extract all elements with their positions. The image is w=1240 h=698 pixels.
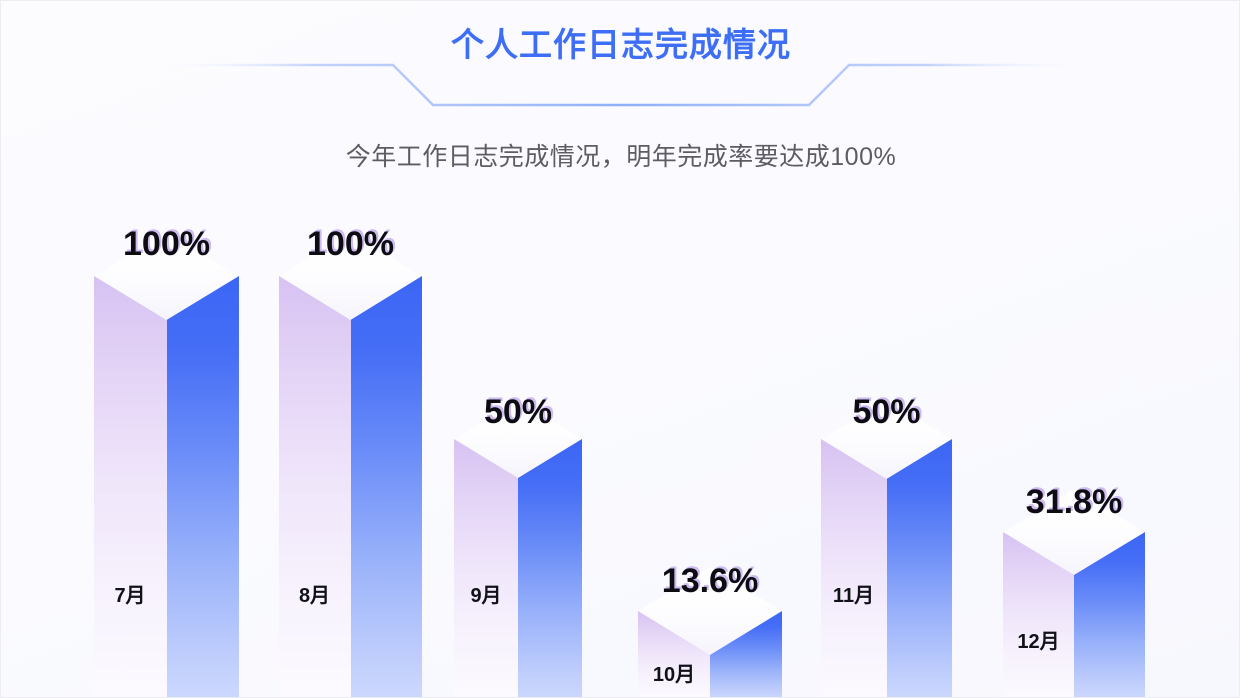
bar-label-2: 8月 xyxy=(279,579,350,608)
bar-value-3: 50% xyxy=(454,393,582,432)
bar-value-5: 50% xyxy=(821,393,952,432)
bar-prism-5 xyxy=(821,439,952,698)
bar-group-5[interactable]: 50% 11月 xyxy=(821,399,952,698)
bar-group-2[interactable]: 100% 8月 xyxy=(279,231,422,698)
bar-prism-3 xyxy=(454,439,582,698)
bar-label-3: 9月 xyxy=(454,579,518,608)
bar-prism-1 xyxy=(94,276,239,698)
bar-face-left-2 xyxy=(279,276,351,698)
bar-group-3[interactable]: 50% 9月 xyxy=(454,399,582,698)
bar-label-4: 10月 xyxy=(638,658,710,687)
bar-value-4: 13.6% xyxy=(638,562,782,601)
bar-chart: 100% 7月 100% 8月 50% xyxy=(1,1,1240,698)
bar-face-left-5 xyxy=(821,439,887,698)
slide-canvas: 个人工作日志完成情况 xyxy=(0,0,1240,698)
bar-group-4[interactable]: 13.6% 10月 xyxy=(638,568,782,698)
bar-face-right-5 xyxy=(887,439,953,698)
bar-prism-2 xyxy=(279,276,422,698)
bar-label-1: 7月 xyxy=(94,579,166,608)
bar-face-right-3 xyxy=(518,439,582,698)
bar-label-6: 12月 xyxy=(1003,625,1074,654)
bar-face-right-1 xyxy=(167,276,240,698)
bar-value-1: 100% xyxy=(94,225,239,264)
bar-prism-6 xyxy=(1003,532,1145,698)
bar-value-2: 100% xyxy=(279,225,422,264)
bar-face-left-1 xyxy=(94,276,167,698)
bar-group-6[interactable]: 31.8% 12月 xyxy=(1003,489,1145,698)
bar-face-left-3 xyxy=(454,439,518,698)
bar-face-right-2 xyxy=(351,276,423,698)
bar-group-1[interactable]: 100% 7月 xyxy=(94,231,239,698)
bar-label-5: 11月 xyxy=(821,579,886,608)
bar-value-6: 31.8% xyxy=(1003,483,1145,522)
